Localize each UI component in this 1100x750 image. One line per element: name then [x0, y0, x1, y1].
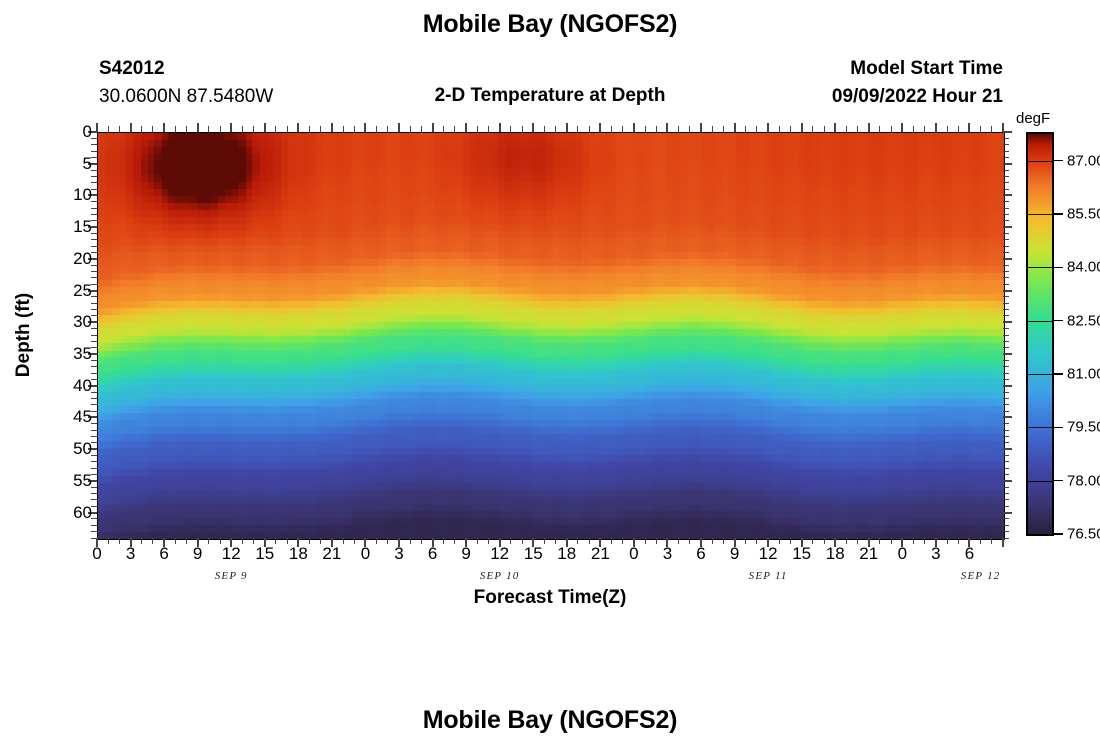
x-axis-minor-tick — [410, 126, 411, 132]
bottom-title: Mobile Bay (NGOFS2) — [0, 706, 1100, 735]
x-axis-minor-tick — [913, 126, 914, 132]
colorbar-tick — [1052, 480, 1063, 482]
x-axis-minor-tick — [175, 538, 176, 544]
colorbar-tick-label: 78.000 — [1067, 472, 1100, 489]
x-axis-minor-tick — [186, 538, 187, 544]
y-axis-minor-tick — [1003, 157, 1009, 158]
x-axis-minor-tick — [790, 538, 791, 544]
y-axis-major-tick — [1003, 448, 1012, 450]
x-axis-minor-tick — [242, 538, 243, 544]
colorbar-band-separator — [1028, 267, 1052, 268]
x-axis-minor-tick — [745, 538, 746, 544]
colorbar-band-separator — [1028, 427, 1052, 428]
x-axis-minor-tick — [320, 538, 321, 544]
x-axis-tick-label: 18 — [557, 544, 576, 564]
x-axis-tick-label: 15 — [255, 544, 274, 564]
y-axis-tick-label: 50 — [52, 439, 92, 459]
x-axis-tick-label: 12 — [222, 544, 241, 564]
x-axis-minor-tick — [287, 126, 288, 132]
x-axis-minor-tick — [555, 126, 556, 132]
y-axis-tick-label: 0 — [52, 122, 92, 142]
x-axis-major-tick — [935, 123, 937, 132]
y-axis-minor-tick — [91, 239, 97, 240]
y-axis-minor-tick — [1003, 455, 1009, 456]
colorbar-tick-label: 76.500 — [1067, 526, 1100, 543]
x-axis-minor-tick — [443, 538, 444, 544]
x-axis-minor-tick — [186, 126, 187, 132]
y-axis-minor-tick — [91, 144, 97, 145]
x-axis-minor-tick — [958, 126, 959, 132]
x-axis-minor-tick — [510, 538, 511, 544]
x-axis-tick-label: 21 — [859, 544, 878, 564]
y-axis-tick-label: 55 — [52, 471, 92, 491]
x-axis-minor-tick — [410, 538, 411, 544]
x-axis-minor-tick — [745, 126, 746, 132]
y-axis-minor-tick — [91, 335, 97, 336]
x-axis-minor-tick — [421, 126, 422, 132]
x-axis-minor-tick — [689, 538, 690, 544]
x-axis-minor-tick — [645, 538, 646, 544]
y-axis-minor-tick — [1003, 239, 1009, 240]
x-axis-minor-tick — [991, 126, 992, 132]
y-axis-minor-tick — [91, 531, 97, 532]
x-axis-minor-tick — [275, 538, 276, 544]
x-axis-major-tick — [264, 123, 266, 132]
x-axis-major-tick — [398, 123, 400, 132]
x-axis-minor-tick — [656, 126, 657, 132]
y-axis-tick-label: 30 — [52, 312, 92, 332]
y-axis-minor-tick — [91, 398, 97, 399]
y-axis-major-tick — [1003, 194, 1012, 196]
x-axis-tick-label: 18 — [826, 544, 845, 564]
x-axis-minor-tick — [488, 538, 489, 544]
y-axis-minor-tick — [1003, 182, 1009, 183]
x-axis-minor-tick — [577, 538, 578, 544]
x-axis-minor-tick — [577, 126, 578, 132]
x-axis-tick-label: 0 — [92, 544, 101, 564]
y-axis-minor-tick — [1003, 423, 1009, 424]
x-axis-minor-tick — [846, 538, 847, 544]
y-axis-minor-tick — [1003, 284, 1009, 285]
y-axis-minor-tick — [1003, 461, 1009, 462]
x-axis-major-tick — [901, 123, 903, 132]
x-axis-minor-tick — [756, 538, 757, 544]
x-axis-minor-tick — [723, 538, 724, 544]
x-axis-day-label: SEP 9 — [215, 570, 248, 582]
y-axis-minor-tick — [1003, 315, 1009, 316]
x-axis-minor-tick — [253, 126, 254, 132]
y-axis-major-tick — [1003, 290, 1012, 292]
x-axis-minor-tick — [812, 538, 813, 544]
x-axis-tick-label: 0 — [898, 544, 907, 564]
y-axis-minor-tick — [1003, 151, 1009, 152]
x-axis-minor-tick — [544, 126, 545, 132]
y-axis-minor-tick — [1003, 347, 1009, 348]
y-axis-minor-tick — [1003, 246, 1009, 247]
y-axis-minor-tick — [1003, 220, 1009, 221]
y-axis-minor-tick — [1003, 189, 1009, 190]
x-axis-major-tick — [834, 123, 836, 132]
x-axis-tick-label: 3 — [126, 544, 135, 564]
x-axis-title: Forecast Time(Z) — [0, 587, 1100, 609]
colorbar-tick — [1052, 533, 1063, 535]
x-axis-minor-tick — [119, 538, 120, 544]
x-axis-minor-tick — [376, 126, 377, 132]
x-axis-minor-tick — [387, 538, 388, 544]
x-axis-minor-tick — [924, 126, 925, 132]
y-axis-major-tick — [1003, 258, 1012, 260]
x-axis-major-tick — [666, 123, 668, 132]
colorbar-tick-label: 81.000 — [1067, 366, 1100, 383]
x-axis-major-tick — [331, 123, 333, 132]
x-axis-minor-tick — [454, 126, 455, 132]
y-axis-minor-tick — [1003, 487, 1009, 488]
x-axis-minor-tick — [779, 538, 780, 544]
x-axis-tick-label: 3 — [931, 544, 940, 564]
y-axis-minor-tick — [1003, 436, 1009, 437]
x-axis-minor-tick — [152, 538, 153, 544]
y-axis-major-tick — [1003, 321, 1012, 323]
y-axis-minor-tick — [1003, 493, 1009, 494]
y-axis-minor-tick — [1003, 341, 1009, 342]
y-axis-minor-tick — [1003, 430, 1009, 431]
x-axis-day-label: SEP 12 — [961, 570, 1001, 582]
y-axis-minor-tick — [1003, 214, 1009, 215]
x-axis-tick-label: 9 — [193, 544, 202, 564]
colorbar-tick-label: 87.000 — [1067, 152, 1100, 169]
x-axis-tick-label: 3 — [394, 544, 403, 564]
y-axis-tick-label: 60 — [52, 503, 92, 523]
x-axis-minor-tick — [857, 538, 858, 544]
colorbar-tick-label: 84.000 — [1067, 259, 1100, 276]
colorbar-tick — [1052, 213, 1063, 215]
y-axis-minor-tick — [1003, 296, 1009, 297]
y-axis-minor-tick — [91, 214, 97, 215]
x-axis-tick-label: 6 — [696, 544, 705, 564]
y-axis-minor-tick — [1003, 138, 1009, 139]
x-axis-minor-tick — [421, 538, 422, 544]
y-axis-minor-tick — [91, 499, 97, 500]
x-axis-tick-label: 18 — [289, 544, 308, 564]
colorbar-tick — [1052, 373, 1063, 375]
x-axis-minor-tick — [119, 126, 120, 132]
x-axis-major-tick — [163, 123, 165, 132]
x-axis-major-tick — [767, 123, 769, 132]
x-axis-major-tick — [297, 123, 299, 132]
y-axis-tick-label: 25 — [52, 281, 92, 301]
x-axis-minor-tick — [522, 538, 523, 544]
y-axis-minor-tick — [91, 303, 97, 304]
x-axis-minor-tick — [611, 538, 612, 544]
x-axis-tick-label: 6 — [428, 544, 437, 564]
x-axis-minor-tick — [891, 538, 892, 544]
x-axis-minor-tick — [522, 126, 523, 132]
y-axis-minor-tick — [91, 468, 97, 469]
x-axis-tick-label: 6 — [965, 544, 974, 564]
x-axis-major-tick — [532, 123, 534, 132]
y-axis-minor-tick — [91, 493, 97, 494]
x-axis-minor-tick — [220, 538, 221, 544]
y-axis-minor-tick — [1003, 373, 1009, 374]
colorbar-unit-label: degF — [1016, 110, 1050, 127]
model-start-time-label: Model Start Time — [703, 58, 1003, 80]
y-axis-major-tick — [1003, 512, 1012, 514]
y-axis-minor-tick — [1003, 277, 1009, 278]
y-axis-minor-tick — [1003, 392, 1009, 393]
y-axis-minor-tick — [91, 271, 97, 272]
colorbar-tick — [1052, 267, 1063, 269]
x-axis-tick-label: 12 — [759, 544, 778, 564]
x-axis-minor-tick — [477, 126, 478, 132]
x-axis-minor-tick — [846, 126, 847, 132]
y-axis-minor-tick — [1003, 404, 1009, 405]
y-axis-minor-tick — [1003, 468, 1009, 469]
y-axis-tick-label: 5 — [52, 154, 92, 174]
y-axis-minor-tick — [1003, 208, 1009, 209]
y-axis-minor-tick — [1003, 379, 1009, 380]
y-axis-major-tick — [1003, 416, 1012, 418]
x-axis-minor-tick — [622, 126, 623, 132]
x-axis-minor-tick — [891, 126, 892, 132]
x-axis-major-tick — [96, 123, 98, 132]
x-axis-minor-tick — [152, 126, 153, 132]
colorbar-tick-label: 85.500 — [1067, 206, 1100, 223]
x-axis-tick-label: 21 — [322, 544, 341, 564]
y-axis-minor-tick — [91, 176, 97, 177]
x-axis-tick-label: 15 — [792, 544, 811, 564]
x-axis-minor-tick — [689, 126, 690, 132]
y-axis-minor-tick — [91, 277, 97, 278]
x-axis-minor-tick — [220, 126, 221, 132]
x-axis-minor-tick — [510, 126, 511, 132]
x-axis-minor-tick — [991, 538, 992, 544]
x-axis-tick-label: 9 — [730, 544, 739, 564]
y-axis-minor-tick — [91, 436, 97, 437]
y-axis-minor-tick — [1003, 474, 1009, 475]
x-axis-major-tick — [599, 123, 601, 132]
y-axis-minor-tick — [91, 246, 97, 247]
y-axis-tick-label: 35 — [52, 344, 92, 364]
x-axis-minor-tick — [354, 538, 355, 544]
y-axis-minor-tick — [1003, 360, 1009, 361]
x-axis-minor-tick — [443, 126, 444, 132]
y-axis-minor-tick — [91, 341, 97, 342]
x-axis-tick-label: 0 — [629, 544, 638, 564]
colorbar-band-separator — [1028, 214, 1052, 215]
y-axis-minor-tick — [1003, 309, 1009, 310]
x-axis-minor-tick — [488, 126, 489, 132]
colorbar-band-separator — [1028, 481, 1052, 482]
x-axis-minor-tick — [980, 538, 981, 544]
x-axis-major-tick — [633, 123, 635, 132]
x-axis-minor-tick — [320, 126, 321, 132]
colorbar-band-separator — [1028, 161, 1052, 162]
y-axis-minor-tick — [1003, 531, 1009, 532]
x-axis-minor-tick — [309, 538, 310, 544]
x-axis-minor-tick — [108, 538, 109, 544]
x-axis-minor-tick — [879, 126, 880, 132]
x-axis-minor-tick — [678, 126, 679, 132]
y-axis-minor-tick — [1003, 525, 1009, 526]
x-axis-minor-tick — [712, 126, 713, 132]
x-axis-minor-tick — [108, 126, 109, 132]
y-axis-minor-tick — [1003, 303, 1009, 304]
colorbar: 87.00085.50084.00082.50081.00079.50078.0… — [1026, 132, 1054, 536]
y-axis-minor-tick — [1003, 506, 1009, 507]
x-axis-minor-tick — [387, 126, 388, 132]
y-axis-tick-label: 15 — [52, 217, 92, 237]
x-axis-minor-tick — [980, 126, 981, 132]
x-axis-minor-tick — [857, 126, 858, 132]
x-axis-minor-tick — [756, 126, 757, 132]
x-axis-minor-tick — [287, 538, 288, 544]
y-axis-tick-label: 10 — [52, 185, 92, 205]
y-axis-major-tick — [1003, 131, 1012, 133]
x-axis-tick-label: 15 — [524, 544, 543, 564]
y-axis-minor-tick — [1003, 411, 1009, 412]
x-axis-minor-tick — [947, 126, 948, 132]
x-axis-minor-tick — [611, 126, 612, 132]
x-axis-minor-tick — [589, 126, 590, 132]
x-axis-major-tick — [868, 123, 870, 132]
y-axis-minor-tick — [1003, 252, 1009, 253]
x-axis-major-tick — [364, 123, 366, 132]
x-axis-minor-tick — [958, 538, 959, 544]
y-axis-minor-tick — [1003, 398, 1009, 399]
x-axis-minor-tick — [544, 538, 545, 544]
x-axis-minor-tick — [253, 538, 254, 544]
colorbar-tick-label: 82.500 — [1067, 312, 1100, 329]
x-axis-tick-label: 21 — [591, 544, 610, 564]
y-axis-tick-label: 45 — [52, 407, 92, 427]
x-axis-minor-tick — [141, 126, 142, 132]
y-axis-minor-tick — [91, 151, 97, 152]
x-axis-major-tick — [734, 123, 736, 132]
colorbar-band-separator — [1028, 374, 1052, 375]
y-axis-minor-tick — [91, 182, 97, 183]
y-axis-minor-tick — [1003, 265, 1009, 266]
y-axis-minor-tick — [1003, 366, 1009, 367]
y-axis-tick-label: 20 — [52, 249, 92, 269]
x-axis-major-tick — [566, 123, 568, 132]
y-axis-minor-tick — [1003, 499, 1009, 500]
x-axis-minor-tick — [589, 538, 590, 544]
x-axis-minor-tick — [454, 538, 455, 544]
x-axis-major-tick — [968, 123, 970, 132]
colorbar-tick — [1052, 320, 1063, 322]
y-axis-minor-tick — [1003, 176, 1009, 177]
y-axis-minor-tick — [1003, 201, 1009, 202]
y-axis-minor-tick — [1003, 271, 1009, 272]
station-id: S42012 — [99, 58, 165, 80]
x-axis-minor-tick — [824, 538, 825, 544]
x-axis-minor-tick — [790, 126, 791, 132]
x-axis-tick-label: 9 — [461, 544, 470, 564]
x-axis-major-tick — [801, 123, 803, 132]
x-axis-minor-tick — [343, 538, 344, 544]
x-axis-minor-tick — [354, 126, 355, 132]
colorbar-band-separator — [1028, 321, 1052, 322]
x-axis-minor-tick — [656, 538, 657, 544]
x-axis-minor-tick — [645, 126, 646, 132]
y-axis-minor-tick — [91, 525, 97, 526]
x-axis-minor-tick — [712, 538, 713, 544]
x-axis-minor-tick — [779, 126, 780, 132]
y-axis-minor-tick — [91, 404, 97, 405]
y-axis-major-tick — [1003, 385, 1012, 387]
y-axis-minor-tick — [1003, 170, 1009, 171]
y-axis-major-tick — [1003, 353, 1012, 355]
y-axis-minor-tick — [1003, 144, 1009, 145]
x-axis-minor-tick — [622, 538, 623, 544]
x-axis-minor-tick — [376, 538, 377, 544]
colorbar-gradient — [1028, 134, 1052, 534]
x-axis-major-tick — [1002, 538, 1004, 547]
x-axis-minor-tick — [242, 126, 243, 132]
x-axis-day-label: SEP 10 — [480, 570, 520, 582]
y-axis-minor-tick — [91, 373, 97, 374]
x-axis-minor-tick — [175, 126, 176, 132]
x-axis-minor-tick — [343, 126, 344, 132]
x-axis-minor-tick — [812, 126, 813, 132]
x-axis-major-tick — [130, 123, 132, 132]
x-axis-minor-tick — [141, 538, 142, 544]
x-axis-minor-tick — [678, 538, 679, 544]
x-axis-minor-tick — [913, 538, 914, 544]
x-axis-minor-tick — [208, 126, 209, 132]
y-axis-major-tick — [1003, 226, 1012, 228]
colorbar-tick — [1052, 427, 1063, 429]
colorbar-band-separator — [1028, 534, 1052, 535]
x-axis-tick-label: 12 — [490, 544, 509, 564]
y-axis-major-tick — [1003, 480, 1012, 482]
x-axis-tick-label: 0 — [361, 544, 370, 564]
x-axis-major-tick — [465, 123, 467, 132]
y-axis-minor-tick — [1003, 328, 1009, 329]
y-axis-minor-tick — [91, 309, 97, 310]
x-axis-major-tick — [700, 123, 702, 132]
x-axis-major-tick — [1002, 123, 1004, 132]
x-axis-major-tick — [197, 123, 199, 132]
y-axis-minor-tick — [1003, 518, 1009, 519]
y-axis-major-tick — [1003, 163, 1012, 165]
x-axis-major-tick — [230, 123, 232, 132]
y-axis-title: Depth (ft) — [13, 293, 35, 377]
x-axis-minor-tick — [309, 126, 310, 132]
y-axis-minor-tick — [1003, 335, 1009, 336]
x-axis-tick-label: 3 — [663, 544, 672, 564]
x-axis-major-tick — [432, 123, 434, 132]
x-axis-major-tick — [499, 123, 501, 132]
y-axis-minor-tick — [91, 430, 97, 431]
x-axis-day-label: SEP 11 — [749, 570, 788, 582]
x-axis-minor-tick — [275, 126, 276, 132]
x-axis-minor-tick — [477, 538, 478, 544]
x-axis-minor-tick — [879, 538, 880, 544]
x-axis-minor-tick — [824, 126, 825, 132]
model-start-time-value: 09/09/2022 Hour 21 — [703, 86, 1003, 108]
x-axis-minor-tick — [555, 538, 556, 544]
y-axis-minor-tick — [1003, 442, 1009, 443]
plot-axes: 0510152025303540455055600369121518210369… — [97, 132, 1003, 538]
y-axis-minor-tick — [91, 366, 97, 367]
page-title: Mobile Bay (NGOFS2) — [0, 10, 1100, 39]
x-axis-minor-tick — [924, 538, 925, 544]
colorbar-tick — [1052, 160, 1063, 162]
x-axis-tick-label: 6 — [159, 544, 168, 564]
x-axis-minor-tick — [723, 126, 724, 132]
x-axis-minor-tick — [208, 538, 209, 544]
